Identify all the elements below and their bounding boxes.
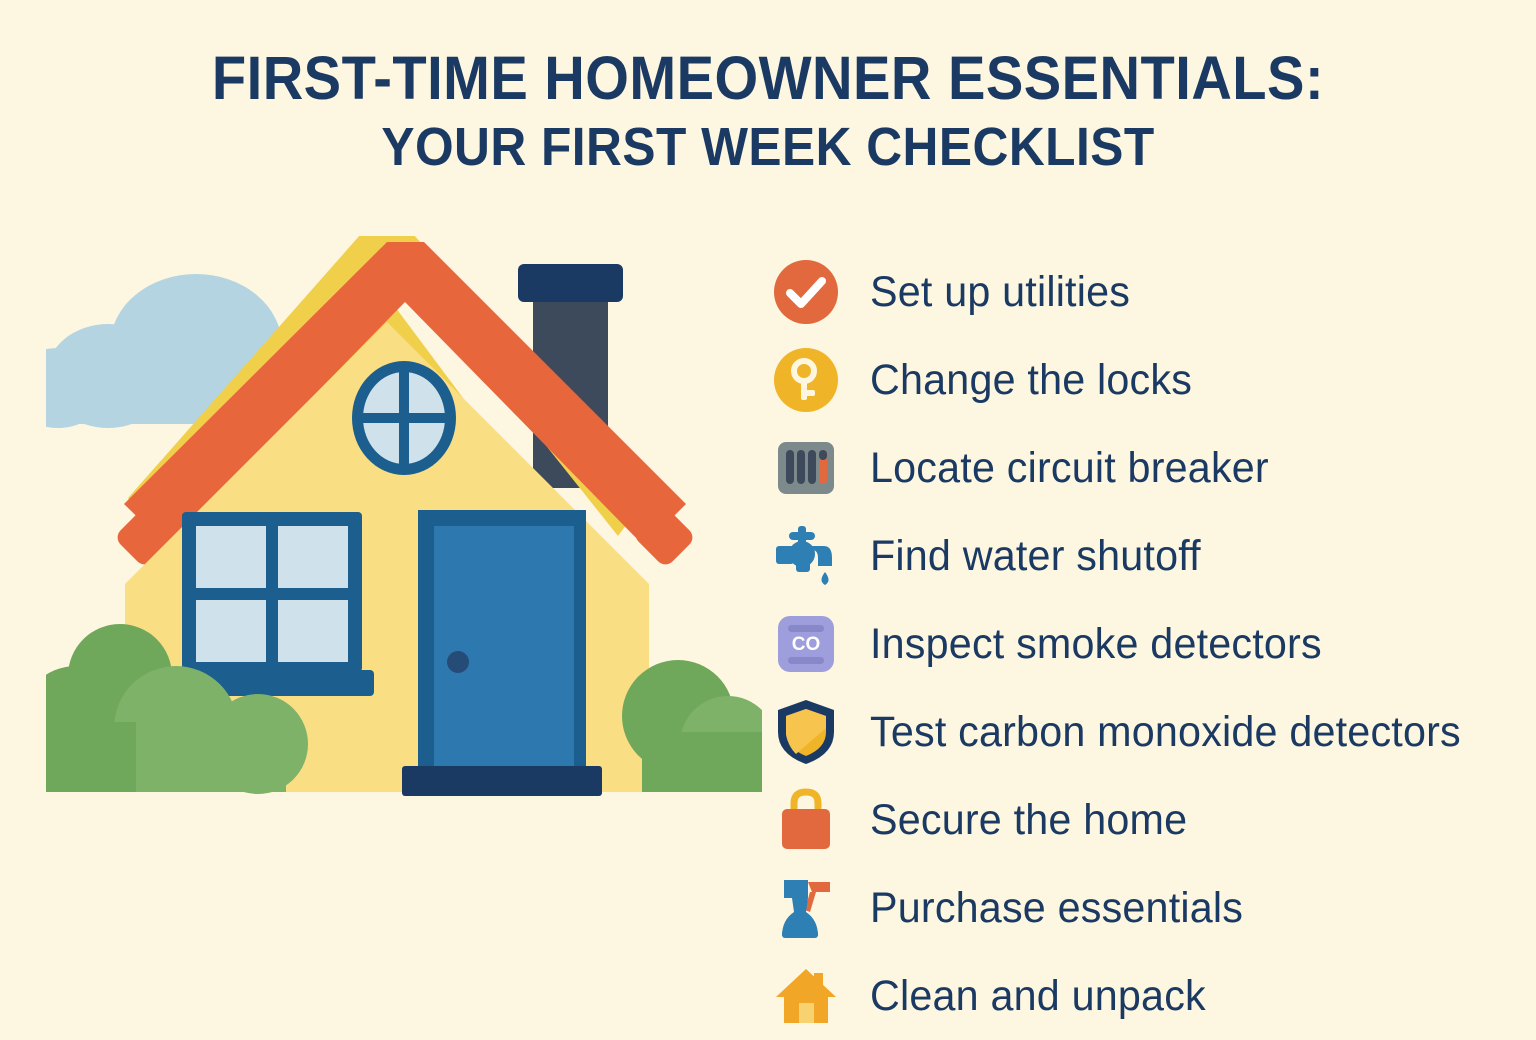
title-line-1: FIRST-TIME HOMEOWNER ESSENTIALS: bbox=[61, 46, 1474, 110]
check-circle-icon bbox=[770, 256, 842, 328]
list-item-label: Set up utilities bbox=[870, 268, 1130, 317]
list-item-label: Change the locks bbox=[870, 356, 1192, 405]
co-detector-icon: CO bbox=[770, 608, 842, 680]
faucet-icon bbox=[770, 520, 842, 592]
list-item-label: Test carbon monoxide detectors bbox=[870, 708, 1461, 757]
title-line-2: YOUR FIRST WEEK CHECKLIST bbox=[61, 116, 1474, 180]
house-illustration bbox=[46, 236, 762, 816]
list-item[interactable]: Test carbon monoxide detectors bbox=[770, 688, 1530, 776]
list-item[interactable]: Secure the home bbox=[770, 776, 1530, 864]
house-icon bbox=[770, 960, 842, 1032]
front-door bbox=[402, 510, 602, 796]
spray-bottle-icon bbox=[770, 872, 842, 944]
list-item-label: Find water shutoff bbox=[870, 532, 1201, 581]
list-item[interactable]: Change the locks bbox=[770, 336, 1530, 424]
infographic-page: FIRST-TIME HOMEOWNER ESSENTIALS: YOUR FI… bbox=[0, 0, 1536, 1024]
list-item-label: Inspect smoke detectors bbox=[870, 620, 1322, 669]
list-item-label: Locate circuit breaker bbox=[870, 444, 1269, 493]
list-item-label: Clean and unpack bbox=[870, 972, 1206, 1021]
circuit-breaker-icon bbox=[770, 432, 842, 504]
checklist: Set up utilities Change the locks bbox=[770, 248, 1530, 1040]
page-title: FIRST-TIME HOMEOWNER ESSENTIALS: YOUR FI… bbox=[0, 46, 1536, 180]
shield-icon bbox=[770, 696, 842, 768]
key-circle-icon bbox=[770, 344, 842, 416]
list-item-label: Purchase essentials bbox=[870, 884, 1243, 933]
round-window bbox=[352, 361, 456, 475]
list-item[interactable]: Clean and unpack bbox=[770, 952, 1530, 1040]
list-item[interactable]: Locate circuit breaker bbox=[770, 424, 1530, 512]
list-item[interactable]: Set up utilities bbox=[770, 248, 1530, 336]
svg-text:CO: CO bbox=[792, 634, 821, 655]
list-item-label: Secure the home bbox=[870, 796, 1187, 845]
list-item[interactable]: Purchase essentials bbox=[770, 864, 1530, 952]
bag-icon bbox=[770, 784, 842, 856]
square-window bbox=[170, 512, 374, 696]
list-item[interactable]: Find water shutoff bbox=[770, 512, 1530, 600]
list-item[interactable]: CO Inspect smoke detectors bbox=[770, 600, 1530, 688]
